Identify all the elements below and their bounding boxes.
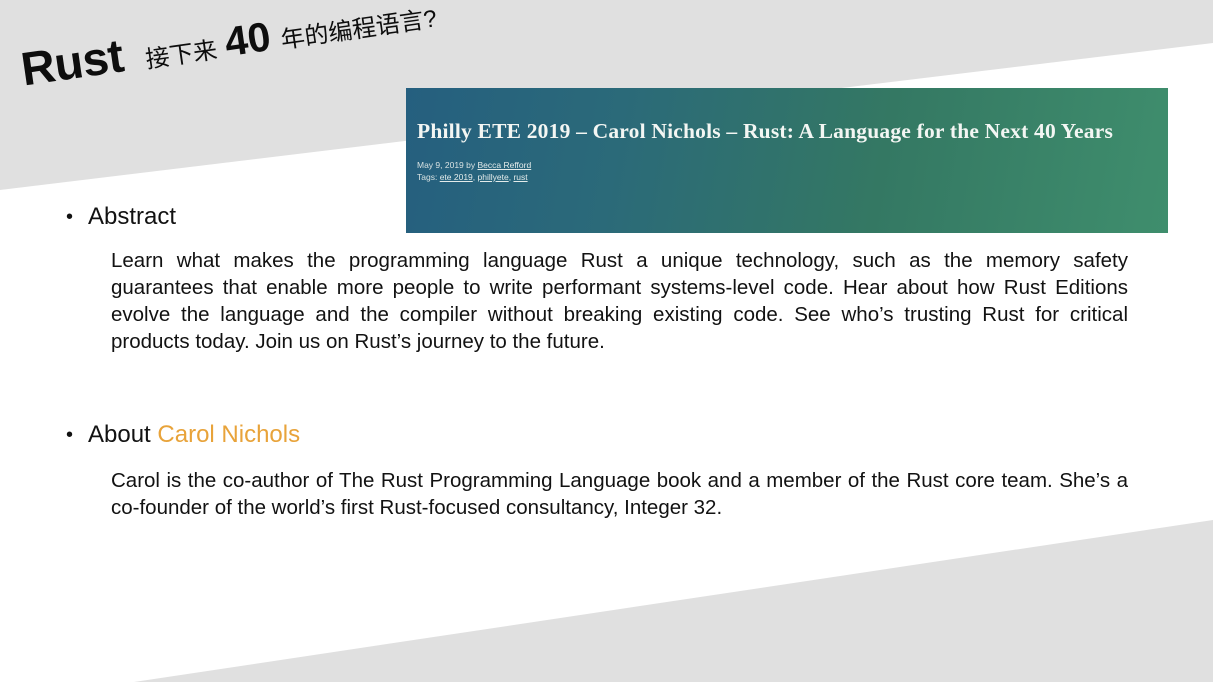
title-tail-cn: 年的编程语言?	[279, 7, 438, 53]
slide-canvas: Rust 接下来 40 年的编程语言? Philly ETE 2019 – Ca…	[0, 0, 1213, 682]
paragraph-about: Carol is the co-author of The Rust Progr…	[111, 467, 1128, 521]
title-subtitle-cn: 接下来	[144, 39, 219, 73]
bullet-marker-icon: •	[66, 204, 88, 230]
bullet-about: • About Carol Nichols	[66, 422, 300, 448]
heading-about: About Carol Nichols	[88, 422, 300, 448]
article-date: May 9, 2019 by	[417, 160, 477, 170]
article-card[interactable]: Philly ETE 2019 – Carol Nichols – Rust: …	[406, 88, 1168, 233]
bullet-abstract: • Abstract	[66, 204, 176, 230]
article-author-link[interactable]: Becca Refford	[477, 160, 531, 170]
article-card-title: Philly ETE 2019 – Carol Nichols – Rust: …	[417, 118, 1146, 145]
bullet-marker-icon: •	[66, 422, 88, 448]
article-tag-phillyete[interactable]: phillyete	[478, 172, 509, 182]
heading-about-label: About	[88, 421, 157, 448]
article-tags-row: Tags: ete 2019, phillyete, rust	[417, 171, 1146, 183]
article-card-meta: May 9, 2019 by Becca Refford Tags: ete 2…	[417, 159, 1146, 184]
paragraph-abstract: Learn what makes the programming languag…	[111, 247, 1128, 355]
heading-abstract: Abstract	[88, 204, 176, 230]
title-main-text: Rust	[18, 31, 126, 92]
article-byline: May 9, 2019 by Becca Refford	[417, 159, 1146, 171]
heading-about-person: Carol Nichols	[157, 421, 300, 448]
article-tag-ete-2019[interactable]: ete 2019	[440, 172, 473, 182]
article-tags-label: Tags:	[417, 172, 440, 182]
title-number: 40	[222, 16, 273, 63]
article-tag-rust[interactable]: rust	[513, 172, 527, 182]
bottom-gray-band	[134, 520, 1213, 682]
page-title: Rust 接下来 40 年的编程语言?	[18, 0, 439, 93]
